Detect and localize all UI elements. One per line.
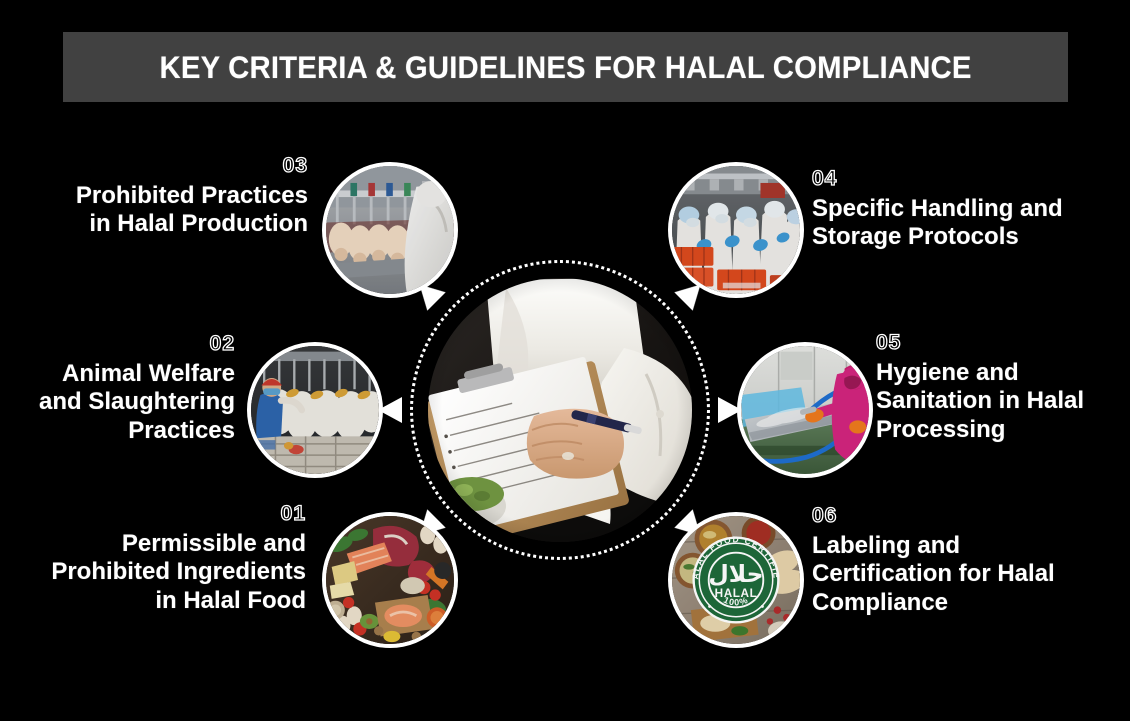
thumbnail-01-image [326, 516, 454, 644]
thumbnail-04-image [672, 166, 800, 294]
page-title: KEY CRITERIA & GUIDELINES FOR HALAL COMP… [159, 49, 971, 86]
item-05-number: 05 [876, 332, 1126, 353]
thumbnail-06[interactable]: HALAL FOOD CERTIFIED حلال HALAL 100% [668, 512, 804, 648]
item-05-title: Hygiene and Sanitation in Halal Processi… [876, 359, 1126, 444]
item-01-number: 01 [16, 503, 306, 524]
item-04-number: 04 [812, 168, 1112, 189]
item-05-text: 05 Hygiene and Sanitation in Halal Proce… [876, 332, 1126, 444]
item-02-number: 02 [10, 333, 235, 354]
item-02-title: Animal Welfare and Slaughtering Practice… [10, 360, 235, 445]
item-03-text: 03 Prohibited Practices in Halal Product… [28, 155, 308, 239]
item-03-number: 03 [28, 155, 308, 176]
thumbnail-06-image: HALAL FOOD CERTIFIED حلال HALAL 100% [672, 516, 800, 644]
center-hub [410, 260, 710, 560]
thumbnail-05-image [741, 346, 869, 474]
item-02-text: 02 Animal Welfare and Slaughtering Pract… [10, 333, 235, 445]
thumbnail-02-image [251, 346, 379, 474]
item-01-title: Permissible and Prohibited Ingredients i… [16, 530, 306, 615]
item-04-text: 04 Specific Handling and Storage Protoco… [812, 168, 1112, 252]
title-bar: KEY CRITERIA & GUIDELINES FOR HALAL COMP… [63, 32, 1068, 102]
item-03-title: Prohibited Practices in Halal Production [28, 182, 308, 239]
item-06-title: Labeling and Certification for Halal Com… [812, 532, 1102, 617]
thumbnail-01[interactable] [322, 512, 458, 648]
item-01-text: 01 Permissible and Prohibited Ingredient… [16, 503, 306, 615]
thumbnail-03-image [326, 166, 454, 294]
thumbnail-04[interactable] [668, 162, 804, 298]
thumbnail-03[interactable] [322, 162, 458, 298]
thumbnail-02[interactable] [247, 342, 383, 478]
thumbnail-05[interactable] [737, 342, 873, 478]
item-06-number: 06 [812, 505, 1102, 526]
item-04-title: Specific Handling and Storage Protocols [812, 195, 1112, 252]
item-06-text: 06 Labeling and Certification for Halal … [812, 505, 1102, 617]
center-photo-inspector [428, 278, 692, 542]
infographic-canvas: KEY CRITERIA & GUIDELINES FOR HALAL COMP… [0, 0, 1130, 721]
